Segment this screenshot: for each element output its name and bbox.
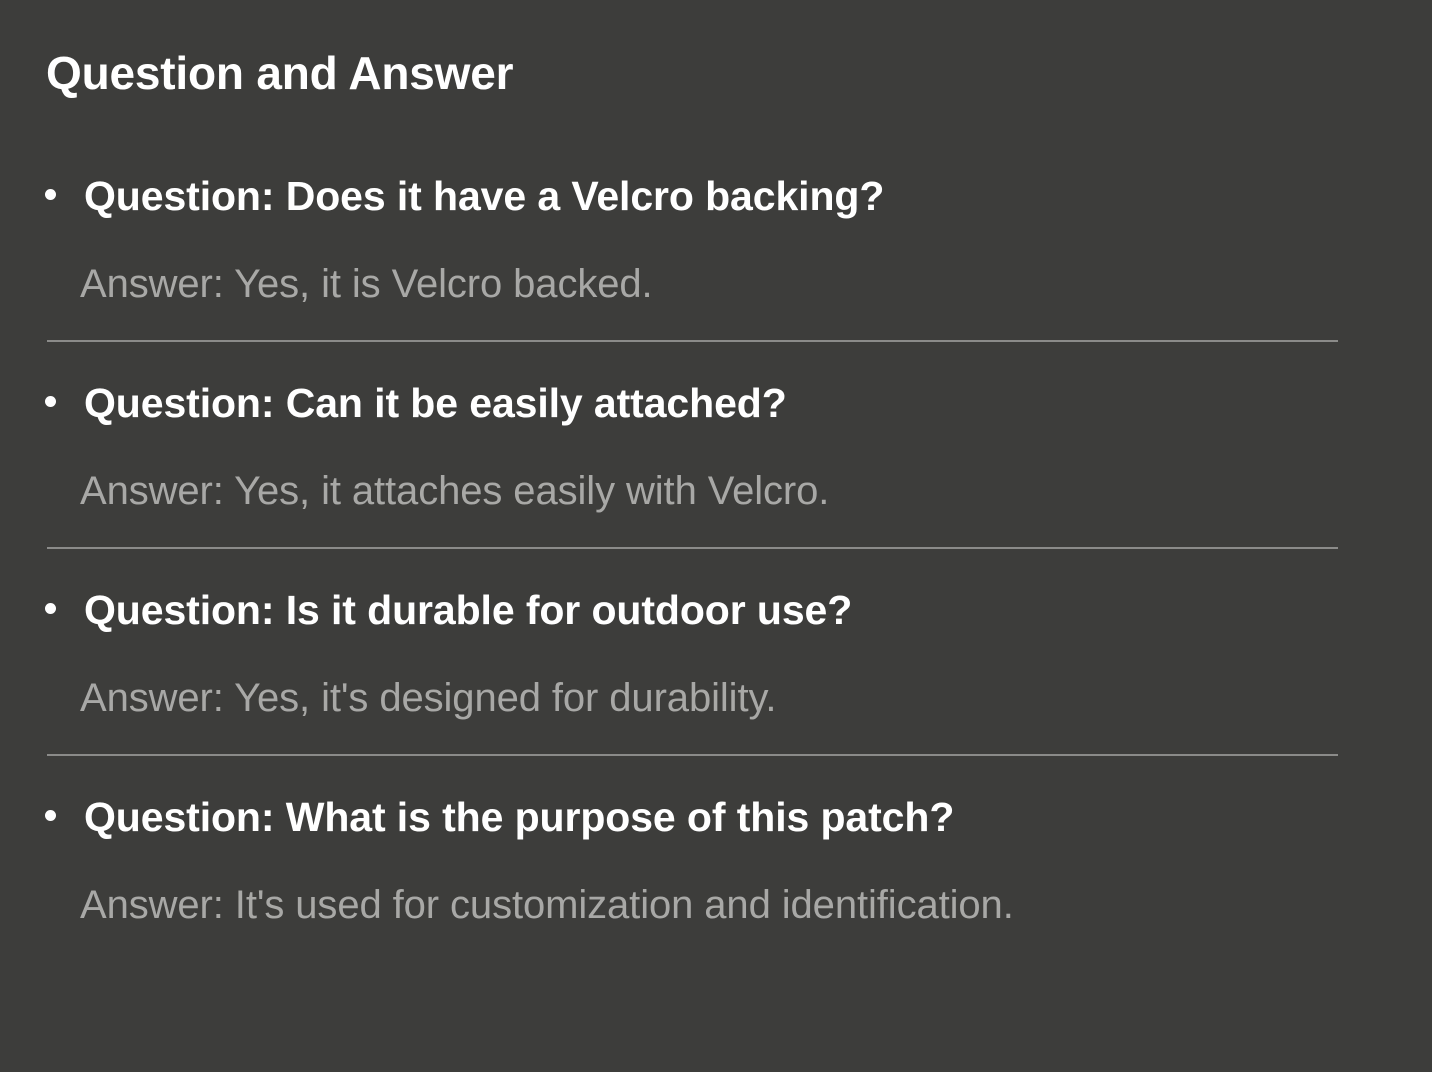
qa-item: Question: Can it be easily attached? Ans… — [0, 342, 1432, 549]
qa-list: Question: Does it have a Velcro backing?… — [0, 168, 1432, 928]
bullet-dot-icon — [45, 396, 56, 407]
qa-item: Question: Does it have a Velcro backing?… — [0, 168, 1432, 342]
qa-question-row: Question: Is it durable for outdoor use? — [0, 549, 1385, 638]
bullet-dot-icon — [45, 189, 56, 200]
qa-answer-text: Answer: Yes, it is Velcro backed. — [0, 261, 1385, 307]
qa-answer-text: Answer: Yes, it attaches easily with Vel… — [0, 468, 1385, 514]
qa-question-text: Question: What is the purpose of this pa… — [84, 789, 1385, 845]
qa-question-row: Question: What is the purpose of this pa… — [0, 756, 1385, 845]
question-and-answer-panel: Question and Answer Question: Does it ha… — [0, 0, 1432, 1072]
qa-question-row: Question: Can it be easily attached? — [0, 342, 1385, 431]
qa-question-text: Question: Does it have a Velcro backing? — [84, 168, 1385, 224]
qa-question-text: Question: Is it durable for outdoor use? — [84, 582, 1385, 638]
qa-answer-text: Answer: It's used for customization and … — [0, 882, 1385, 928]
qa-item: Question: What is the purpose of this pa… — [0, 756, 1432, 928]
qa-question-text: Question: Can it be easily attached? — [84, 375, 1385, 431]
page-title: Question and Answer — [46, 46, 513, 100]
qa-item: Question: Is it durable for outdoor use?… — [0, 549, 1432, 756]
bullet-dot-icon — [45, 603, 56, 614]
qa-question-row: Question: Does it have a Velcro backing? — [0, 168, 1385, 224]
bullet-dot-icon — [45, 810, 56, 821]
qa-answer-text: Answer: Yes, it's designed for durabilit… — [0, 675, 1385, 721]
